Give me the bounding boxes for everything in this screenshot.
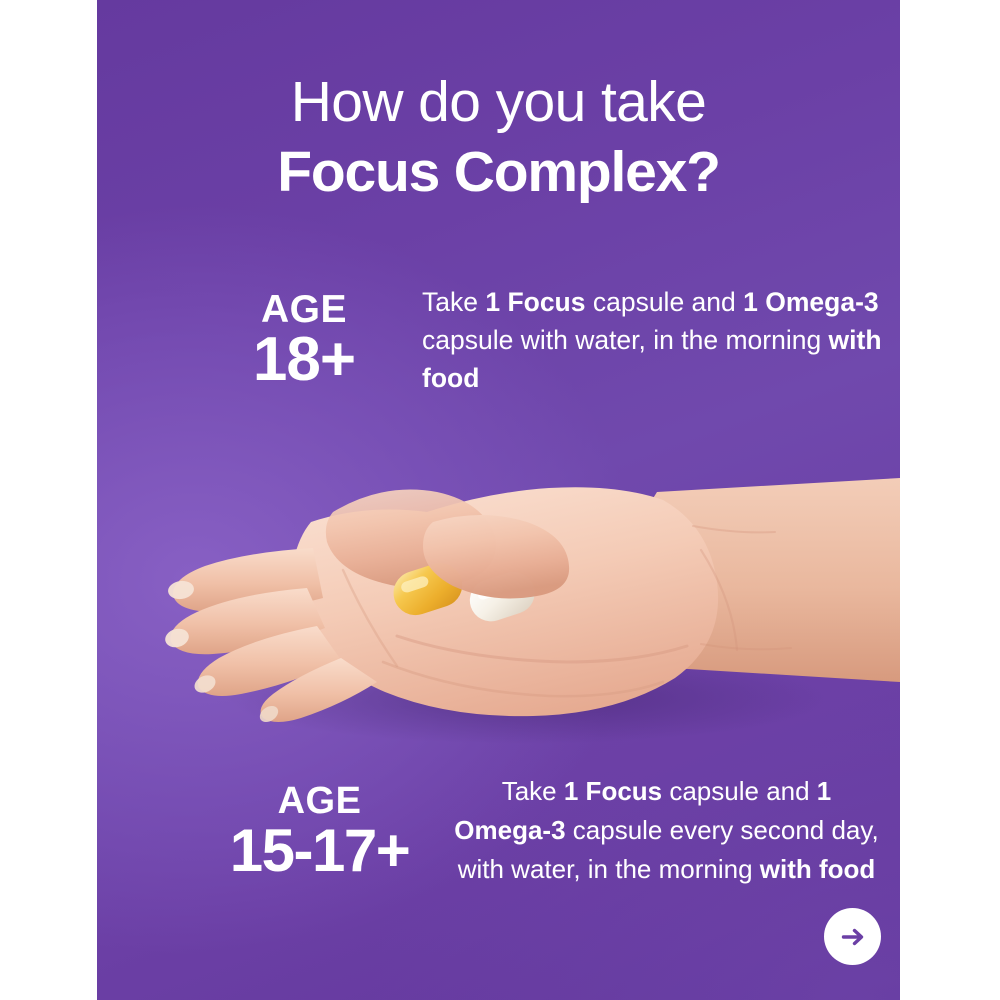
promo-card: How do you take Focus Complex? AGE 18+ T… xyxy=(97,0,900,1000)
age-label-teen: AGE 15-17+ xyxy=(212,782,427,879)
next-button[interactable] xyxy=(824,908,881,965)
page-title: How do you take Focus Complex? xyxy=(97,74,900,201)
page-title-line-2: Focus Complex? xyxy=(97,144,900,201)
page-title-line-1: How do you take xyxy=(97,74,900,131)
dosage-row-adult: AGE 18+ Take 1 Focus capsule and 1 Omega… xyxy=(224,283,884,397)
age-word-teen: AGE xyxy=(212,782,427,820)
arrow-right-icon xyxy=(838,922,868,952)
age-value-adult: 18+ xyxy=(224,331,384,390)
dosage-instructions-teen: Take 1 Focus capsule and 1 Omega-3 capsu… xyxy=(451,772,882,889)
age-label-adult: AGE 18+ xyxy=(224,290,384,390)
screenshot-stage: How do you take Focus Complex? AGE 18+ T… xyxy=(0,0,1000,1000)
dosage-instructions-adult: Take 1 Focus capsule and 1 Omega-3 capsu… xyxy=(422,283,884,397)
hand-with-capsules-photo xyxy=(97,430,900,750)
age-word-adult: AGE xyxy=(224,290,384,329)
dosage-row-teen: AGE 15-17+ Take 1 Focus capsule and 1 Om… xyxy=(212,772,882,889)
age-value-teen: 15-17+ xyxy=(212,822,427,879)
